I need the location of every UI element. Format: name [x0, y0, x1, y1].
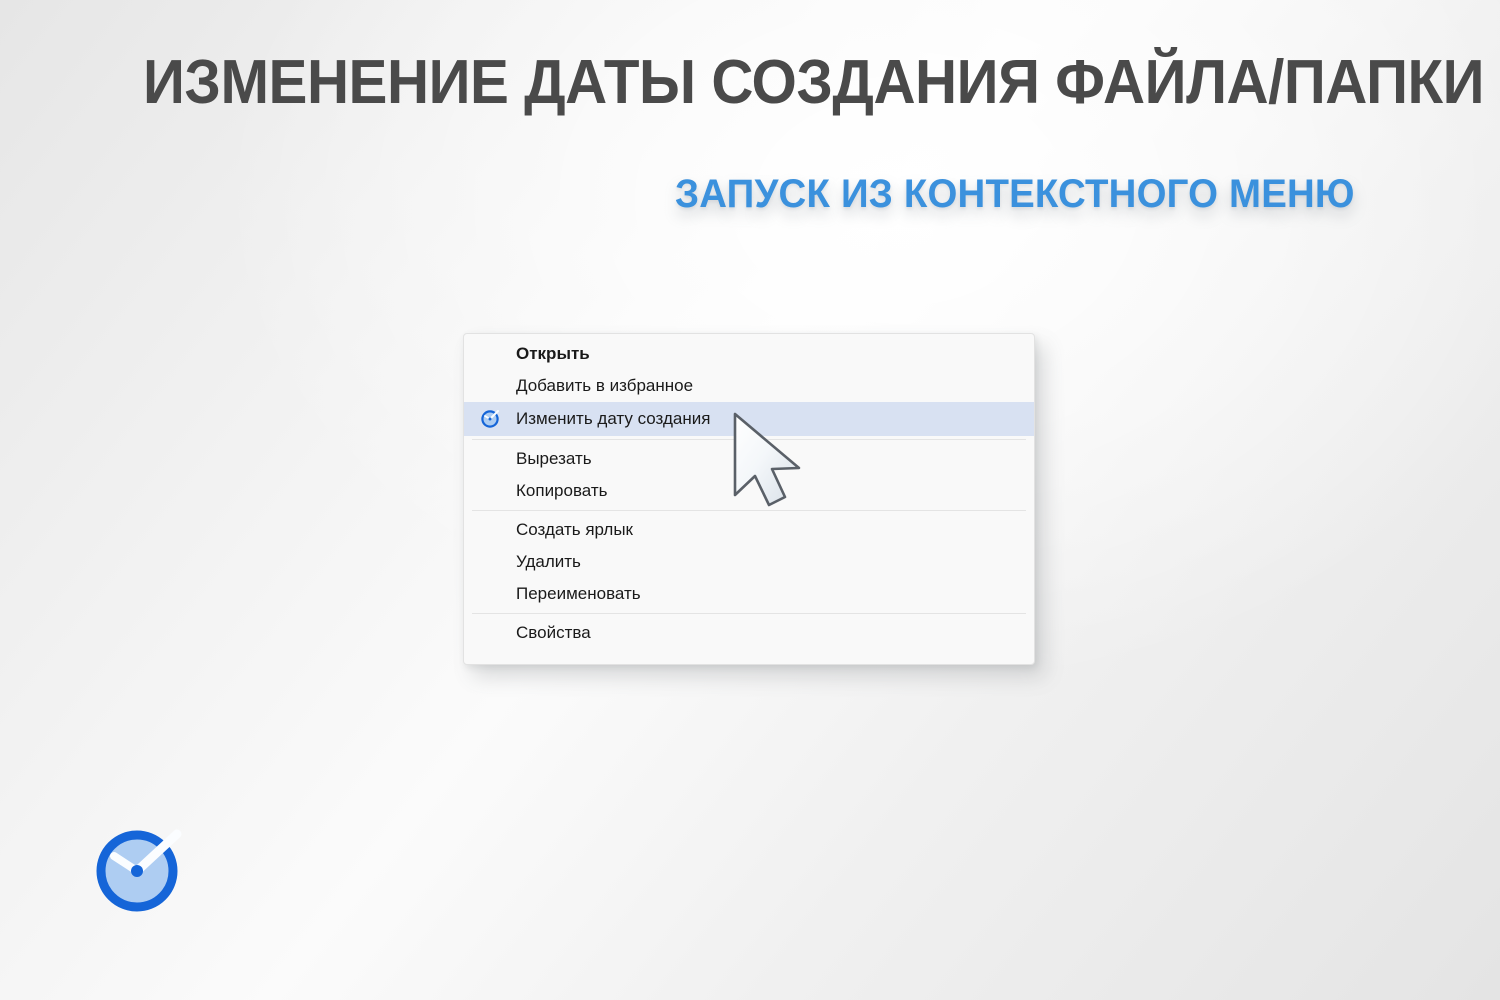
page-title: ИЗМЕНЕНИЕ ДАТЫ СОЗДАНИЯ ФАЙЛА/ПАПКИ — [143, 52, 1484, 114]
menu-item-создать-ярлык[interactable]: Создать ярлык — [464, 514, 1034, 546]
menu-separator — [472, 439, 1026, 440]
menu-item-label: Удалить — [516, 552, 581, 572]
menu-item-label: Копировать — [516, 481, 608, 501]
context-menu-body: ОткрытьДобавить в избранноеИзменить дату… — [464, 334, 1034, 649]
menu-item-вырезать[interactable]: Вырезать — [464, 443, 1034, 475]
menu-item-label: Открыть — [516, 344, 590, 364]
page-subtitle: ЗАПУСК ИЗ КОНТЕКСТНОГО МЕНЮ — [675, 174, 1355, 214]
menu-item-label: Добавить в избранное — [516, 376, 693, 396]
menu-item-label: Переименовать — [516, 584, 641, 604]
menu-item-добавить-в-избранное[interactable]: Добавить в избранное — [464, 370, 1034, 402]
clock-logo-icon — [93, 823, 185, 915]
menu-item-изменить-дату-создания[interactable]: Изменить дату создания — [464, 402, 1034, 436]
menu-item-label: Вырезать — [516, 449, 592, 469]
menu-item-label: Изменить дату создания — [516, 409, 710, 429]
context-menu[interactable]: ОткрытьДобавить в избранноеИзменить дату… — [463, 333, 1035, 665]
context-menu-section: ВырезатьКопировать — [464, 443, 1034, 507]
menu-item-открыть[interactable]: Открыть — [464, 334, 1034, 370]
context-menu-section: ОткрытьДобавить в избранноеИзменить дату… — [464, 334, 1034, 436]
menu-separator — [472, 510, 1026, 511]
menu-item-удалить[interactable]: Удалить — [464, 546, 1034, 578]
menu-item-свойства[interactable]: Свойства — [464, 617, 1034, 649]
slide-canvas: ИЗМЕНЕНИЕ ДАТЫ СОЗДАНИЯ ФАЙЛА/ПАПКИ ЗАПУ… — [0, 0, 1500, 1000]
menu-separator — [472, 613, 1026, 614]
menu-item-label: Создать ярлык — [516, 520, 633, 540]
context-menu-section: Свойства — [464, 617, 1034, 649]
menu-item-label: Свойства — [516, 623, 591, 643]
menu-item-копировать[interactable]: Копировать — [464, 475, 1034, 507]
menu-item-переименовать[interactable]: Переименовать — [464, 578, 1034, 610]
context-menu-section: Создать ярлыкУдалитьПереименовать — [464, 514, 1034, 610]
